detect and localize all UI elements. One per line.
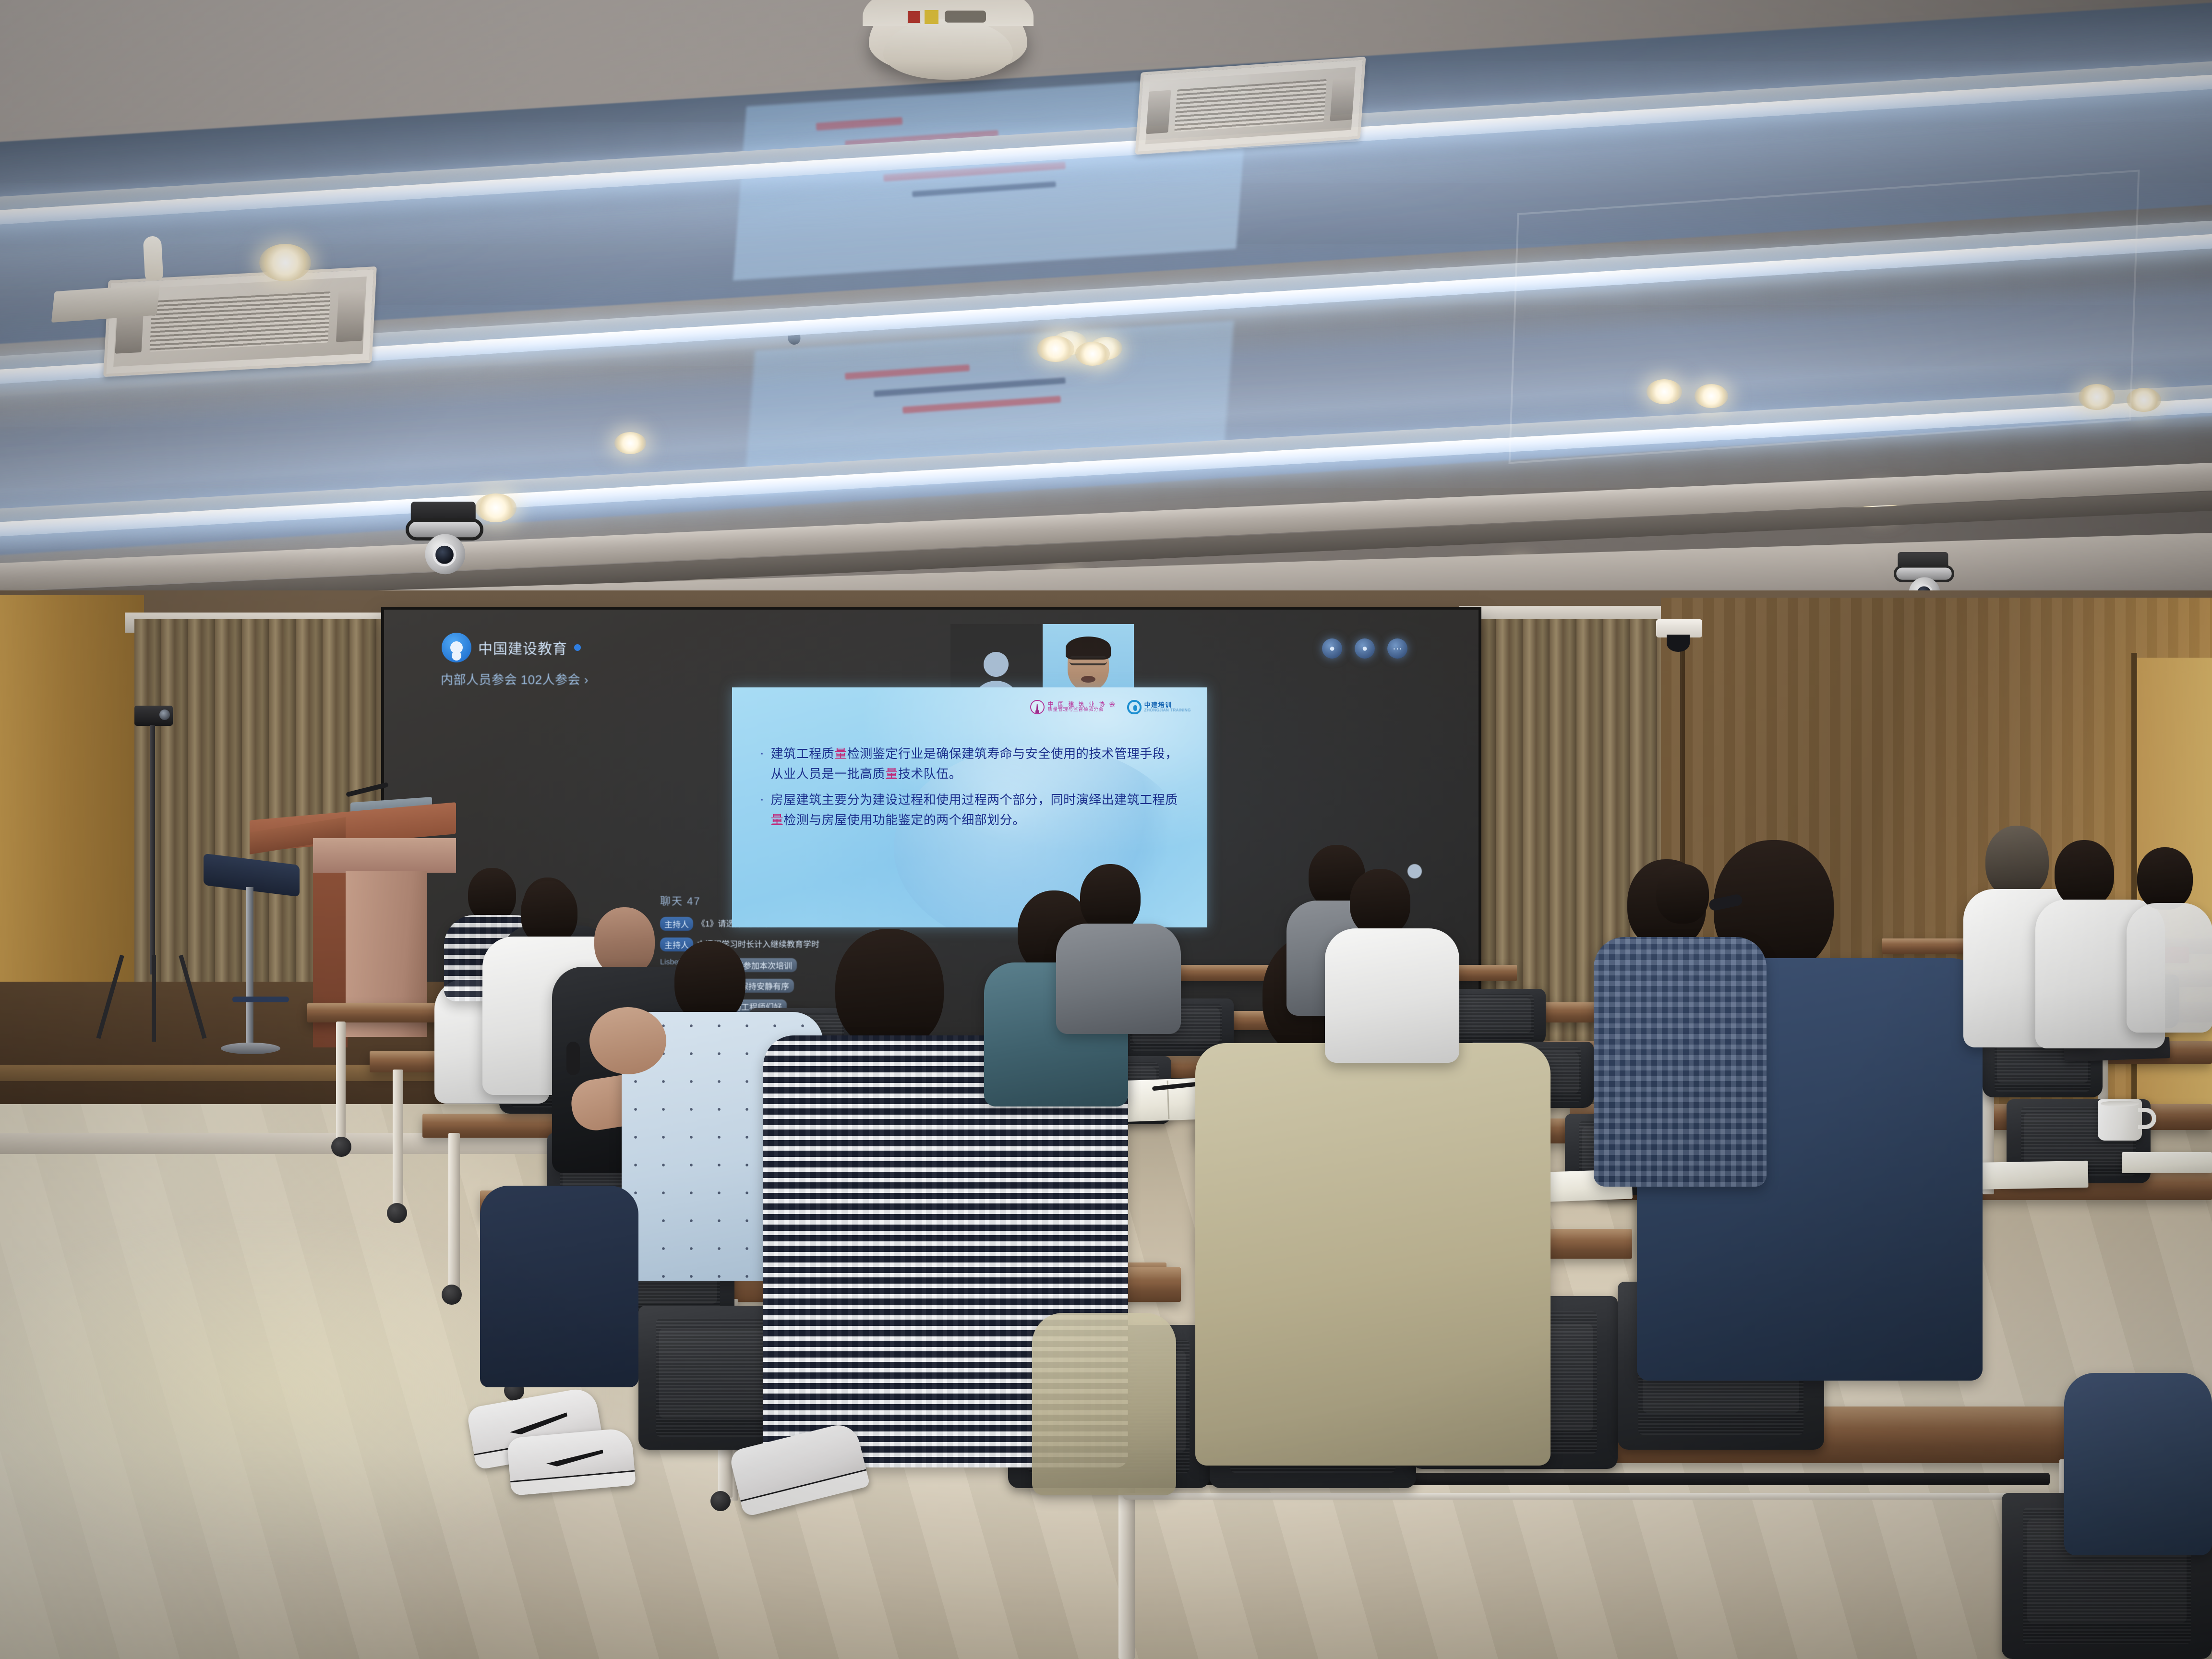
smoke-detector-vent bbox=[945, 11, 986, 23]
desk-leg bbox=[336, 1022, 346, 1142]
bullet-marker: · bbox=[760, 792, 764, 830]
torso bbox=[2064, 1373, 2212, 1555]
torso bbox=[1032, 1313, 1176, 1495]
ac-grille bbox=[1175, 79, 1327, 132]
association-logo-line2: 质量管理与监督检验分会 bbox=[1048, 708, 1117, 713]
camera-tripod bbox=[106, 706, 206, 1042]
smoke-detector-label-red bbox=[907, 10, 921, 24]
camera-lens-icon bbox=[433, 543, 457, 566]
torso bbox=[1325, 928, 1459, 1063]
chat-tag: 主持人 bbox=[660, 917, 693, 931]
head bbox=[1985, 826, 2049, 898]
ceiling-recess-panel bbox=[1508, 169, 2140, 464]
conference-room-scene: 中国建设教育 内部人员参会 102人参会 › ● ● ⋯ 聊天 47 bbox=[0, 0, 2212, 1659]
head bbox=[835, 929, 944, 1050]
torso bbox=[1195, 1043, 1551, 1466]
ceiling bbox=[0, 0, 2212, 619]
head bbox=[674, 941, 745, 1022]
recessed-downlight bbox=[1037, 336, 1074, 362]
desk-caster bbox=[331, 1137, 351, 1157]
pendant-bulb bbox=[143, 236, 164, 281]
mug-rim bbox=[2101, 1101, 2140, 1106]
tripod-leg bbox=[179, 955, 206, 1039]
closed-notebook[interactable] bbox=[2122, 1152, 2212, 1173]
desk-leg bbox=[448, 1133, 460, 1291]
shoe-logo-icon bbox=[508, 1412, 569, 1436]
zhongjian-emblem-icon bbox=[1127, 700, 1142, 714]
chat-message-row: 主持人 本课程学习时长计入继续教育学时 bbox=[660, 938, 818, 951]
smoke-detector-dome bbox=[883, 19, 1013, 80]
zhongjian-logo-line1: 中建培训 bbox=[1144, 702, 1191, 709]
conference-controls[interactable]: ● ● ⋯ bbox=[1322, 638, 1407, 659]
conference-brand: 中国建设教育 bbox=[442, 633, 581, 662]
podium-apron bbox=[313, 838, 456, 873]
torso bbox=[1056, 924, 1181, 1034]
head bbox=[1080, 864, 1141, 932]
head bbox=[2055, 840, 2114, 907]
shoe bbox=[506, 1428, 636, 1496]
ac-grille bbox=[149, 291, 331, 351]
tripod-camera-icon bbox=[134, 706, 173, 726]
head bbox=[1350, 869, 1410, 936]
legs bbox=[480, 1186, 638, 1387]
conference-brand-label: 中国建设教育 bbox=[478, 637, 567, 658]
shoe-logo-icon bbox=[546, 1450, 604, 1467]
head bbox=[594, 907, 655, 975]
association-emblem-icon bbox=[1030, 700, 1045, 714]
desk-cable-rail bbox=[1123, 1493, 2074, 1500]
slide-bullet-list: · 建筑工程质量检测鉴定行业是确保建筑寿命与安全使用的技术管理手段，从业人员是一… bbox=[760, 744, 1188, 836]
brand-avatar-icon bbox=[442, 633, 471, 662]
recessed-downlight bbox=[614, 432, 646, 454]
desk-caster bbox=[387, 1203, 407, 1223]
security-camera bbox=[1656, 619, 1702, 653]
smoke-detector-label-yellow bbox=[925, 10, 939, 24]
head bbox=[468, 868, 516, 922]
recessed-downlight bbox=[259, 244, 311, 281]
presenter-glasses-icon bbox=[1070, 656, 1107, 665]
camera-control-icon[interactable]: ● bbox=[1355, 638, 1375, 659]
tripod-leg bbox=[152, 955, 156, 1042]
ac-louver bbox=[336, 290, 365, 342]
participants-count-label[interactable]: 内部人员参会 102人参会 › bbox=[441, 670, 589, 688]
torso bbox=[1594, 937, 1767, 1187]
wristwatch bbox=[566, 1042, 580, 1075]
desk-caster bbox=[710, 1491, 731, 1511]
podium[interactable] bbox=[250, 811, 456, 1080]
security-camera-dome-icon bbox=[1667, 635, 1690, 652]
slide-bullet-item: · 房屋建筑主要分为建设过程和使用过程两个部分，同时演绎出建筑工程质量检测与房屋… bbox=[760, 790, 1188, 830]
raise-hand-icon[interactable] bbox=[1407, 864, 1422, 878]
head bbox=[2137, 847, 2193, 910]
slide-bullet-item: · 建筑工程质量检测鉴定行业是确保建筑寿命与安全使用的技术管理手段，从业人员是一… bbox=[760, 744, 1188, 784]
recessed-downlight bbox=[1075, 342, 1110, 366]
hand bbox=[589, 1007, 666, 1074]
online-status-dot bbox=[574, 644, 581, 651]
desk-leg bbox=[393, 1070, 403, 1209]
head bbox=[521, 881, 577, 945]
torso bbox=[2127, 903, 2212, 1033]
slide-logos: 中 国 建 筑 业 协 会 质量管理与监督检验分会 中建培训 ZHONGJIAN… bbox=[1030, 700, 1191, 714]
ac-louver bbox=[1146, 90, 1171, 134]
bullet-text: 房屋建筑主要分为建设过程和使用过程两个部分，同时演绎出建筑工程质量检测与房屋使用… bbox=[771, 790, 1188, 830]
mic-control-icon[interactable]: ● bbox=[1322, 638, 1342, 659]
zhongjian-logo-line2: ZHONGJIAN TRAINING bbox=[1144, 709, 1191, 712]
ceiling-ac-cassette-right bbox=[1135, 57, 1366, 155]
zhongjian-training-logo: 中建培训 ZHONGJIAN TRAINING bbox=[1127, 700, 1191, 714]
coffee-mug[interactable] bbox=[2098, 1099, 2142, 1141]
ac-louver bbox=[1330, 77, 1355, 121]
more-control-icon[interactable]: ⋯ bbox=[1387, 638, 1407, 659]
bullet-marker: · bbox=[760, 746, 764, 784]
closed-notebook[interactable] bbox=[1968, 1161, 2089, 1190]
tripod-column bbox=[150, 725, 155, 974]
ptz-conference-camera-left bbox=[406, 502, 483, 579]
ceiling-ac-cassette-left bbox=[103, 266, 377, 377]
bullet-text: 建筑工程质量检测鉴定行业是确保建筑寿命与安全使用的技术管理手段，从业人员是一批高… bbox=[771, 744, 1188, 784]
smoke-detector bbox=[869, 0, 1027, 75]
presenter-mouth bbox=[1081, 676, 1095, 683]
desk-caster bbox=[442, 1285, 462, 1305]
head bbox=[1656, 864, 1709, 924]
china-construction-association-logo: 中 国 建 筑 业 协 会 质量管理与监督检验分会 bbox=[1030, 700, 1117, 714]
